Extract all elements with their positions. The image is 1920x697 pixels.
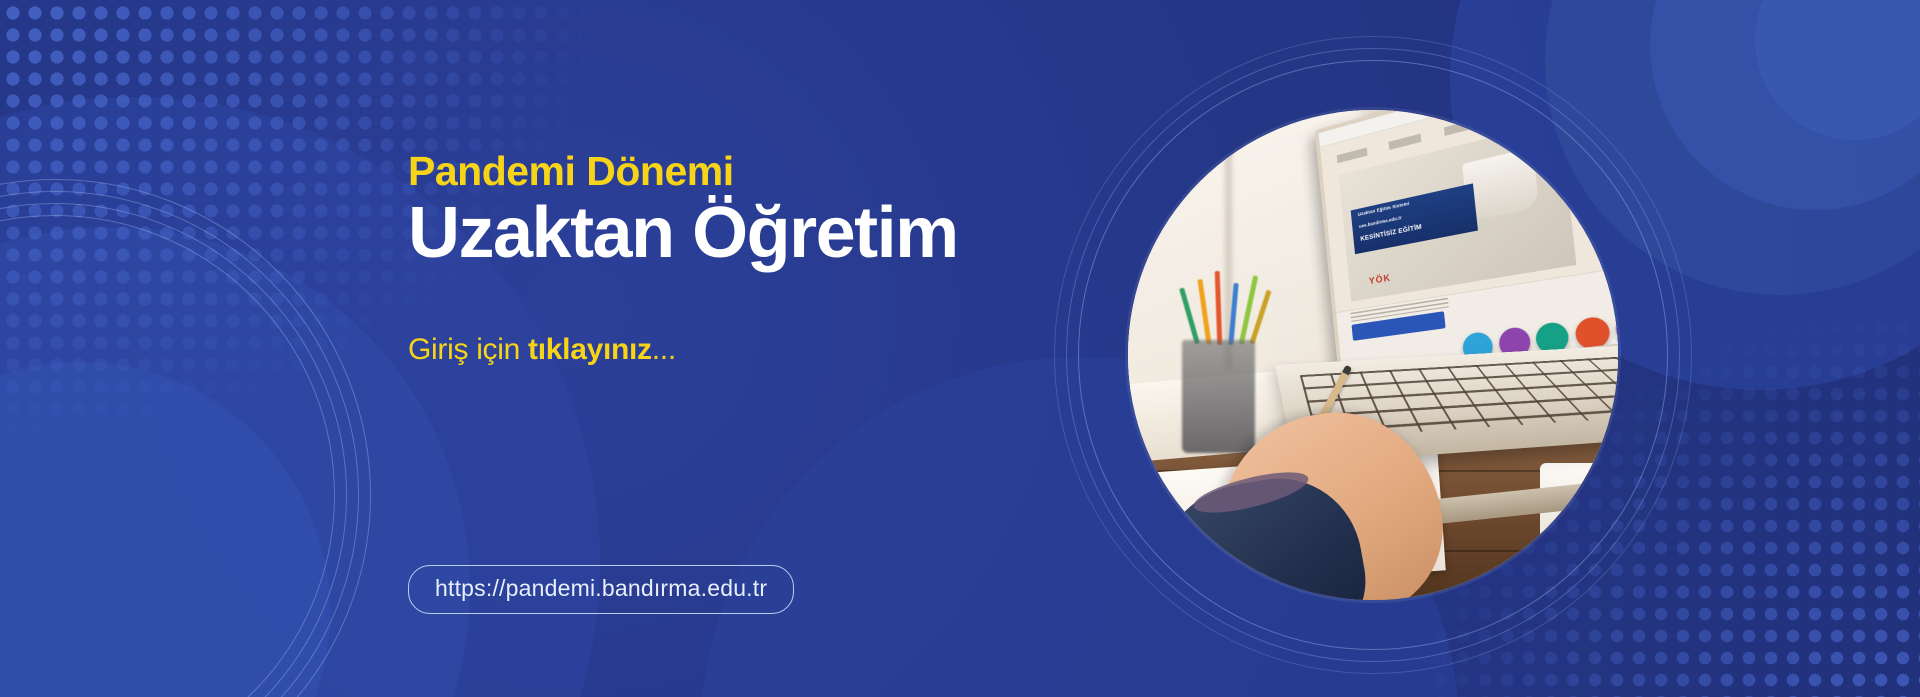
cta-suffix: ... <box>652 333 676 366</box>
photo-mug <box>1540 463 1618 561</box>
decorative-ring-bottom-left-3 <box>0 191 359 697</box>
cta-strong: tıklayınız <box>528 333 652 366</box>
url-pill-button[interactable]: https://pandemi.bandırma.edu.tr <box>408 565 794 614</box>
yok-logo-text: YÖK <box>1361 271 1399 288</box>
screen-icon <box>1614 309 1618 345</box>
decorative-ring-bottom-left-2 <box>0 203 347 697</box>
photo-pencil-cup <box>1182 340 1256 453</box>
banner-headline: Uzaktan Öğretim <box>408 195 1048 273</box>
screen-subtitle: ues.bandirma.edu.tr <box>1359 215 1402 229</box>
promotional-banner: Pandemi Dönemi Uzaktan Öğretim Giriş içi… <box>0 0 1920 697</box>
photo-laptop-screen: Uzaktan Eğitim Sistemi ues.bandirma.edu.… <box>1314 110 1618 379</box>
banner-kicker: Pandemi Dönemi <box>408 150 1048 193</box>
circular-photo: Uzaktan Eğitim Sistemi ues.bandirma.edu.… <box>1128 110 1618 600</box>
photo-university-logo <box>1581 110 1618 119</box>
decorative-ring-bottom-left-4 <box>0 179 371 697</box>
banner-cta-text: Giriş için tıklayınız... <box>408 333 1048 367</box>
photo-scene: Uzaktan Eğitim Sistemi ues.bandirma.edu.… <box>1128 110 1618 600</box>
decorative-circle-bottom-left-2 <box>0 227 470 697</box>
decorative-ring-bottom-left-1 <box>0 215 335 697</box>
decorative-circle-top-right-3 <box>1650 0 1920 210</box>
cta-prefix: Giriş için <box>408 333 528 366</box>
yok-logo: YÖK <box>1360 265 1399 292</box>
decorative-circle-bottom-left-3 <box>0 362 330 697</box>
decorative-circle-top-right-4 <box>1755 0 1920 140</box>
screen-icon <box>1573 315 1610 350</box>
banner-copy: Pandemi Dönemi Uzaktan Öğretim Giriş içi… <box>408 150 1048 367</box>
